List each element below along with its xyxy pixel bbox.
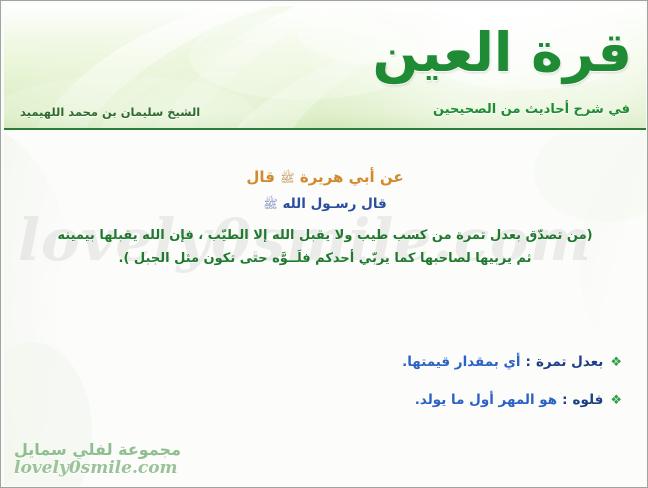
note-term: فلوه bbox=[573, 392, 604, 408]
slide-header: قرة العين في شرح أحاديث من الصحيحين الشي… bbox=[4, 4, 646, 130]
sallallahu-alayhi-wasallam-icon: ﷺ bbox=[263, 197, 278, 211]
logo-subtitle: في شرح أحاديث من الصحيحين bbox=[433, 102, 630, 117]
brand-website-url: lovely0smile.com bbox=[14, 459, 181, 478]
diamond-bullet-icon: ❖ bbox=[610, 356, 622, 369]
hadith-body-line-2: ثم يربيها لصاحبها كما يربّي أحدكم فلَــو… bbox=[4, 247, 646, 270]
site-logo: قرة العين bbox=[417, 6, 632, 98]
sallallahu-symbol-icon: ﷺ bbox=[280, 171, 295, 185]
slide-container: قرة العين في شرح أحاديث من الصحيحين الشي… bbox=[0, 0, 648, 488]
hadith-body-line-1: (من تصدّق بعدل تمرة من كسب طيب ولا يقبل … bbox=[4, 224, 646, 247]
note-separator: : bbox=[557, 392, 572, 408]
note-item: ❖ فلوه : هو المهر أول ما يولد. bbox=[402, 392, 622, 408]
logo-title: قرة العين bbox=[417, 10, 632, 96]
note-definition: هو المهر أول ما يولد. bbox=[415, 392, 557, 408]
site-branding: مجموعة لفلي سمايل lovely0smile.com bbox=[14, 441, 181, 478]
narrator-suffix: قال bbox=[246, 168, 274, 186]
note-item: ❖ بعدل تمرة : أي بمقدار قيمتها. bbox=[402, 354, 622, 370]
note-term: بعدل تمرة bbox=[536, 354, 603, 370]
hadith-block: عن أبي هريرة ﷺ قال قال رسـول الله ﷺ (من … bbox=[4, 168, 646, 270]
narrator-text: عن أبي هريرة bbox=[300, 168, 404, 186]
brand-arabic-name: مجموعة لفلي سمايل bbox=[14, 441, 181, 459]
note-separator: : bbox=[521, 354, 536, 370]
diamond-bullet-icon: ❖ bbox=[610, 394, 622, 407]
slide-body: lovely0smile.com عن أبي هريرة ﷺ قال قال … bbox=[4, 132, 646, 486]
hadith-narrator-line: عن أبي هريرة ﷺ قال bbox=[4, 168, 646, 188]
note-definition: أي بمقدار قيمتها. bbox=[402, 354, 520, 370]
hadith-prophet-line: قال رسـول الله ﷺ bbox=[4, 196, 646, 214]
explanation-notes-list: ❖ بعدل تمرة : أي بمقدار قيمتها. ❖ فلوه :… bbox=[402, 354, 622, 430]
prophet-text: قال رسـول الله bbox=[282, 196, 386, 212]
author-name: الشيخ سليمان بن محمد اللهيميد bbox=[20, 105, 200, 119]
